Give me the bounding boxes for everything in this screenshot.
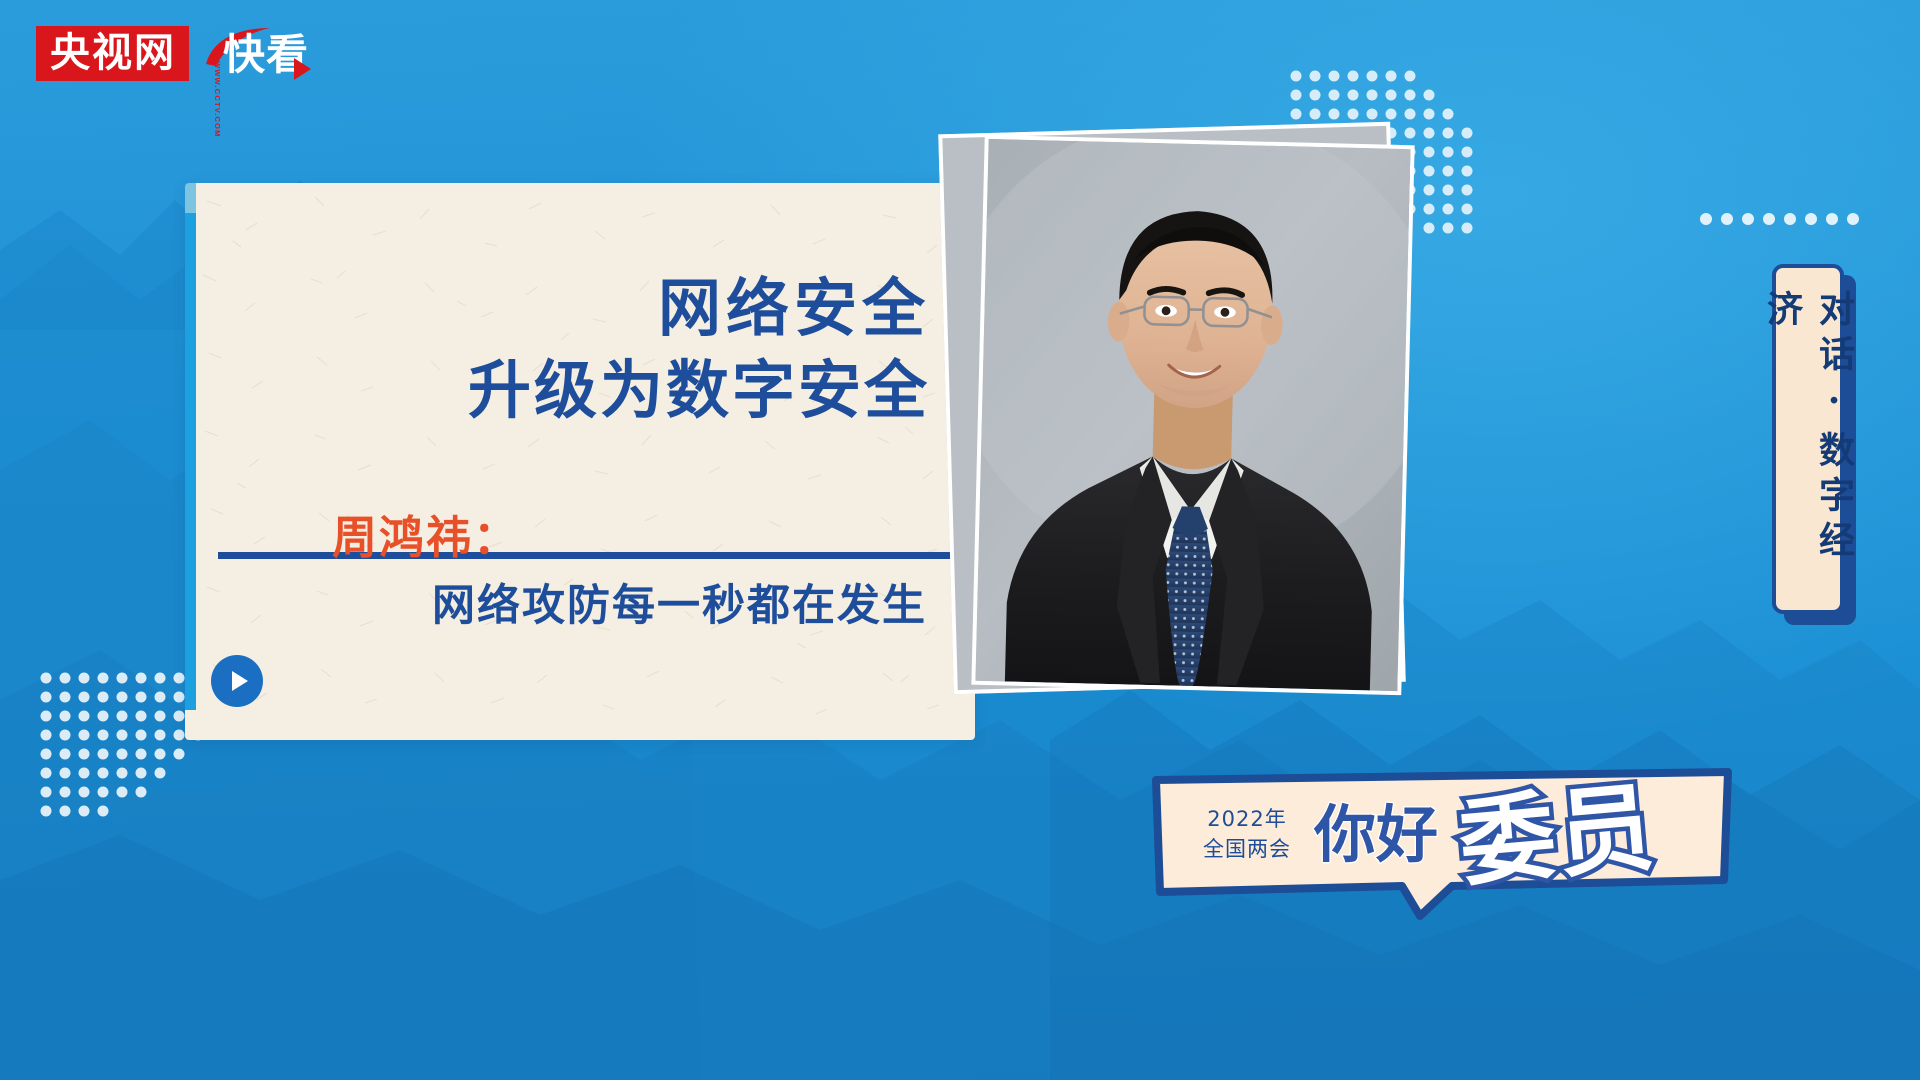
dot-grid-right-edge	[1700, 205, 1900, 240]
badge-year: 2022年	[1182, 804, 1312, 834]
cctv-logo-red-box: 央视网	[36, 26, 189, 81]
vertical-label-text: 对话·数字经济	[1756, 290, 1860, 610]
badge-event: 全国两会	[1182, 834, 1312, 864]
cctv-url-text: WWW.CCTV.COM	[213, 61, 222, 138]
badge-meta: 2022年 全国两会	[1182, 804, 1312, 864]
badge-headline-small: 你好	[1313, 798, 1438, 871]
speaker-portrait	[971, 135, 1414, 695]
title-line-2: 升级为数字安全	[0, 350, 930, 432]
play-triangle-icon	[294, 58, 311, 80]
speaker-quote: 网络攻防每一秒都在发生	[0, 578, 975, 634]
content-card	[185, 183, 975, 740]
portrait-image	[975, 139, 1410, 691]
program-badge: 2022年 全国两会 你好 委员	[1152, 768, 1732, 920]
poster-canvas: 央视网 WWW.CCTV.COM 快看	[0, 0, 1920, 1080]
card-left-accent-top	[185, 183, 196, 213]
vertical-label: 对话·数字经济	[1772, 264, 1844, 614]
paper-texture	[185, 183, 975, 740]
play-triangle-glyph	[232, 671, 248, 691]
play-circle-icon[interactable]	[211, 655, 263, 707]
poster-title: 网络安全 升级为数字安全	[0, 268, 975, 432]
speaker-name: 周鸿祎：	[0, 508, 975, 568]
cctv-logo-text: 央视网	[50, 33, 176, 73]
title-line-1: 网络安全	[0, 268, 930, 350]
kuaikan-logo: 快看	[223, 26, 309, 84]
cctv-logo[interactable]: 央视网 WWW.CCTV.COM 快看	[36, 26, 309, 100]
badge-headline-big: 委员	[1455, 774, 1660, 900]
badge-headline: 你好 委员	[1310, 774, 1720, 904]
